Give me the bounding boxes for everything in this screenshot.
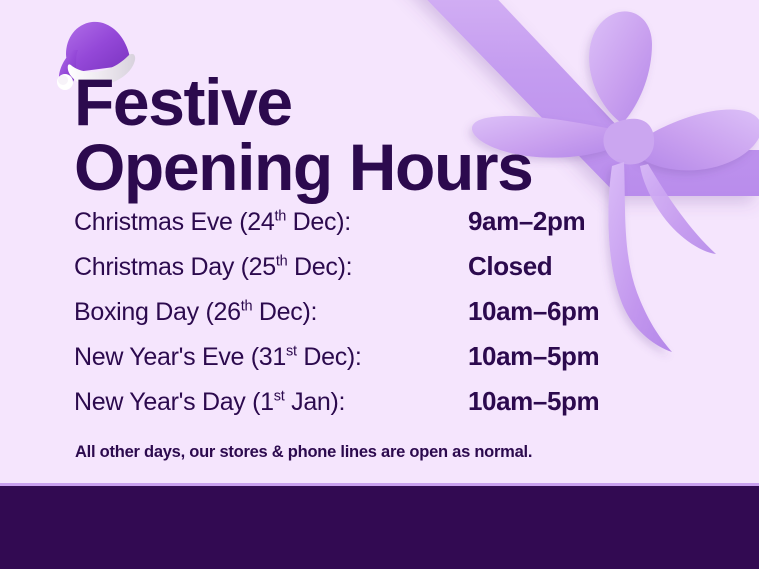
hours-label-prefix: New Year's Eve (31 — [74, 343, 286, 371]
hours-label: New Year's Eve (31st Dec): — [74, 343, 468, 372]
hours-label: Boxing Day (26th Dec): — [74, 298, 468, 327]
hours-label-suffix: Dec): — [297, 343, 362, 371]
bottom-banner: Reserve your car 24/7 at Carsa.co.uk — [0, 486, 759, 569]
hours-label-ordinal: st — [286, 344, 297, 360]
headline-line-2: Opening Hours — [74, 135, 714, 200]
hours-label-suffix: Dec): — [286, 208, 351, 236]
table-row: Christmas Eve (24th Dec): 9am–2pm — [74, 206, 714, 251]
festive-opening-hours-poster: Festive Opening Hours Christmas Eve (24t… — [0, 0, 759, 569]
hours-value: Closed — [468, 251, 552, 282]
headline-line-1: Festive — [74, 70, 714, 135]
hours-label: New Year's Day (1st Jan): — [74, 388, 468, 417]
hours-value: 9am–2pm — [468, 206, 585, 237]
hours-label-ordinal: th — [241, 299, 253, 315]
footnote-text: All other days, our stores & phone lines… — [75, 443, 532, 462]
hours-label-prefix: Boxing Day (26 — [74, 298, 241, 326]
hours-value: 10am–5pm — [468, 386, 599, 417]
hours-value: 10am–5pm — [468, 341, 599, 372]
hours-value: 10am–6pm — [468, 296, 599, 327]
hours-label-prefix: Christmas Eve (24 — [74, 208, 275, 236]
table-row: Boxing Day (26th Dec): 10am–6pm — [74, 296, 714, 341]
hours-label-suffix: Dec): — [252, 298, 317, 326]
opening-hours-table: Christmas Eve (24th Dec): 9am–2pm Christ… — [74, 206, 714, 431]
hours-label-ordinal: st — [274, 389, 285, 405]
hours-label-ordinal: th — [276, 254, 288, 270]
hours-label-suffix: Jan): — [284, 388, 345, 416]
hours-label-prefix: Christmas Day (25 — [74, 253, 276, 281]
hours-label-prefix: New Year's Day (1 — [74, 388, 274, 416]
page-title: Festive Opening Hours — [74, 70, 714, 199]
table-row: Christmas Day (25th Dec): Closed — [74, 251, 714, 296]
table-row: New Year's Day (1st Jan): 10am–5pm — [74, 386, 714, 431]
hours-label: Christmas Eve (24th Dec): — [74, 208, 468, 237]
hours-label-suffix: Dec): — [287, 253, 352, 281]
hours-label: Christmas Day (25th Dec): — [74, 253, 468, 282]
hours-label-ordinal: th — [275, 209, 287, 225]
table-row: New Year's Eve (31st Dec): 10am–5pm — [74, 341, 714, 386]
